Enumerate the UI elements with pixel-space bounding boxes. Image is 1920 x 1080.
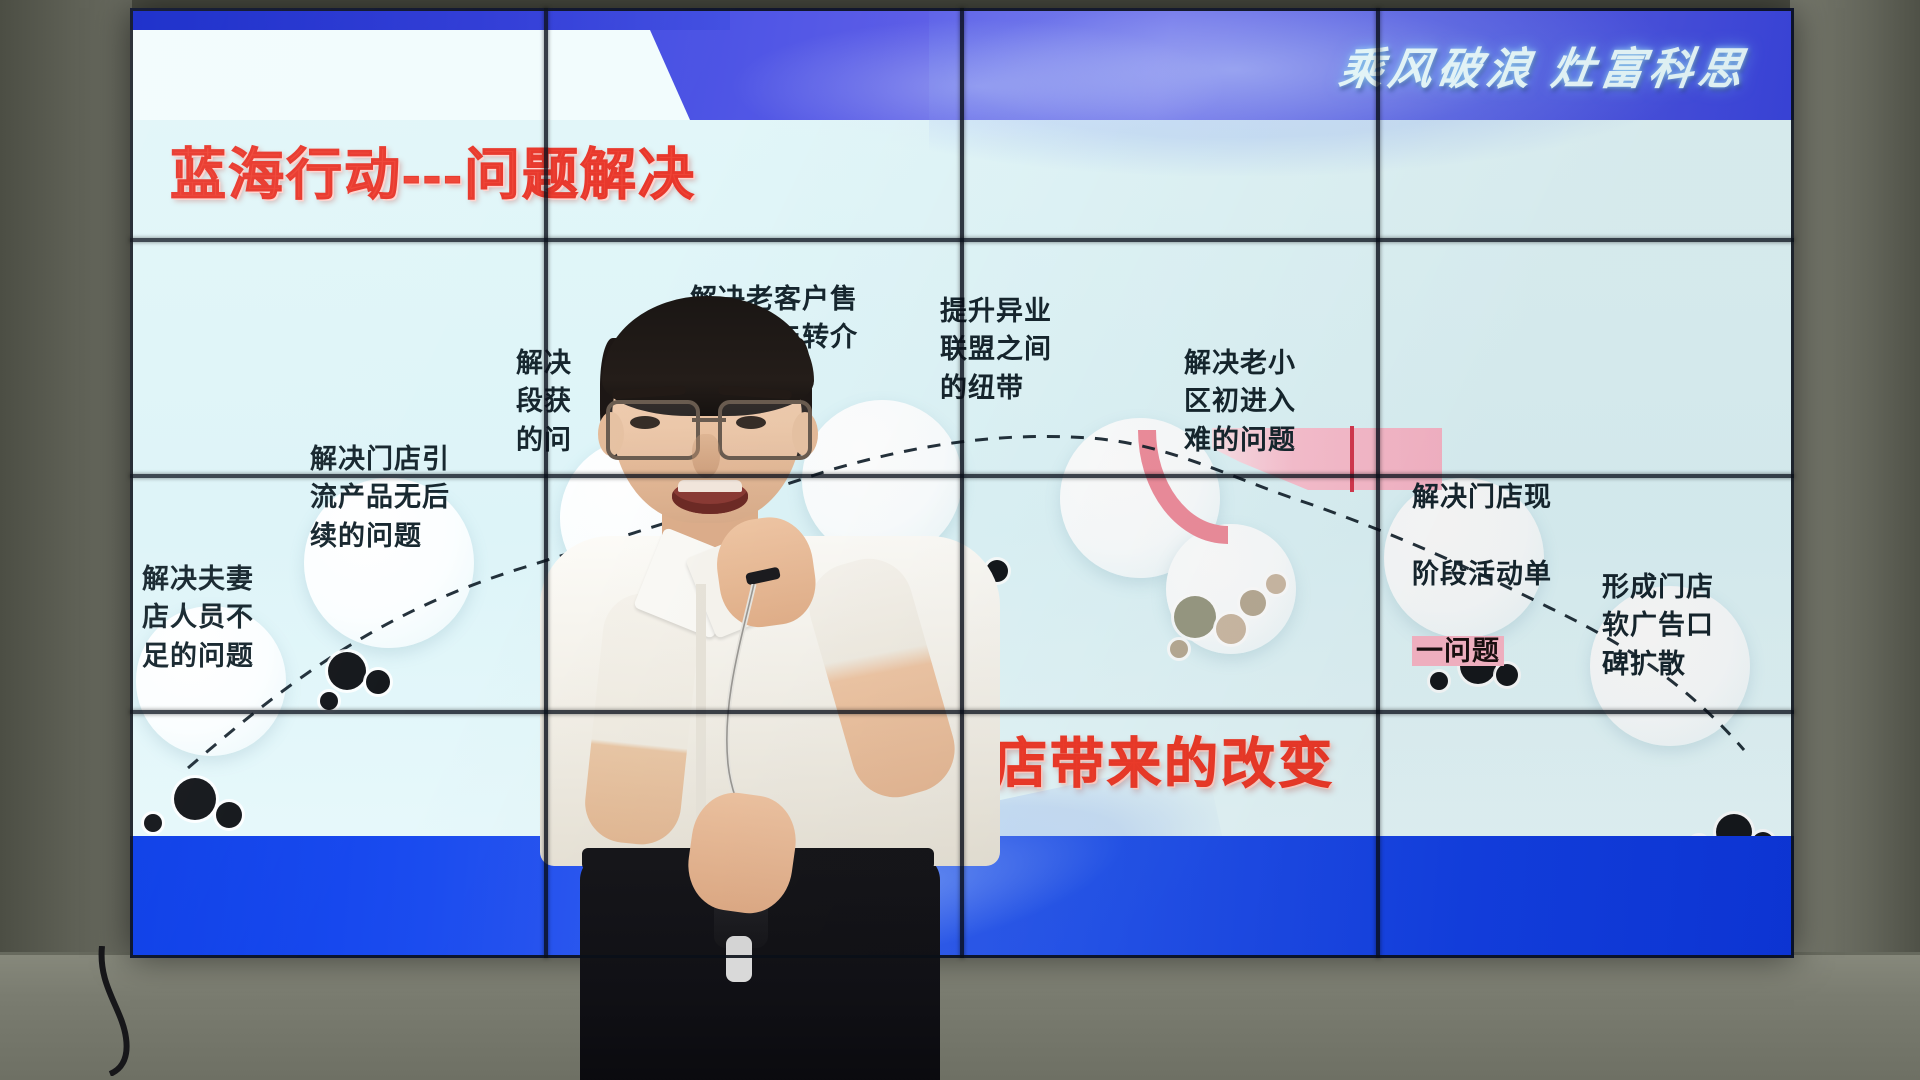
presenter-nose [692,434,720,478]
glasses-lens-left [606,400,700,460]
bubble-cluster-b2 [366,670,390,694]
room-wall-left [0,0,132,1080]
glasses-lens-right [718,400,812,460]
bubble-cluster-e1 [1174,596,1216,638]
presenter-teeth [678,480,742,492]
node-label-2: 解决门店引 流产品无后 续的问题 [310,440,450,555]
bubble-cluster-e5 [1266,574,1286,594]
power-cable [96,946,166,1076]
node-label-6: 解决老小 区初进入 难的问题 [1184,344,1296,459]
brand-logo: 乘风破浪 灶富科思 [1336,34,1753,96]
clicker-tip [726,936,752,982]
banner-top-edge [130,8,730,30]
bubble-cluster-b1 [328,652,366,690]
bubble-cluster-a2 [216,802,242,828]
bubble-cluster-e3 [1240,590,1266,616]
glasses-bridge [692,418,726,422]
slide-title: 蓝海行动---问题解决 [170,130,696,211]
bubble-cluster-e4 [1170,640,1188,658]
video-wall[interactable]: 乘风破浪 灶富科思 蓝海行动---问题解决 [130,8,1794,958]
presenter [550,308,980,1080]
node-label-7-line2: 阶段活动单 [1412,555,1552,593]
node-label-7-line3: 一问题 [1412,632,1552,670]
bubble-cluster-e2 [1216,614,1246,644]
node-label-7: 解决门店现 阶段活动单 一问题 [1412,440,1552,708]
room-wall-right [1790,0,1920,1080]
pink-edge-line [1350,426,1354,492]
bubble-cluster-a1 [174,778,216,820]
banner-glow-secondary [729,19,1228,153]
node-label-7-line1: 解决门店现 [1412,478,1552,516]
bubble-cluster-a3 [144,814,162,832]
bubble-cluster-b3 [320,692,338,710]
screenshot-stage: 乘风破浪 灶富科思 蓝海行动---问题解决 [0,0,1920,1080]
node-label-8: 形成门店 软广告口 碑扩散 [1602,568,1714,683]
node-label-1: 解决夫妻 店人员不 足的问题 [142,560,254,675]
